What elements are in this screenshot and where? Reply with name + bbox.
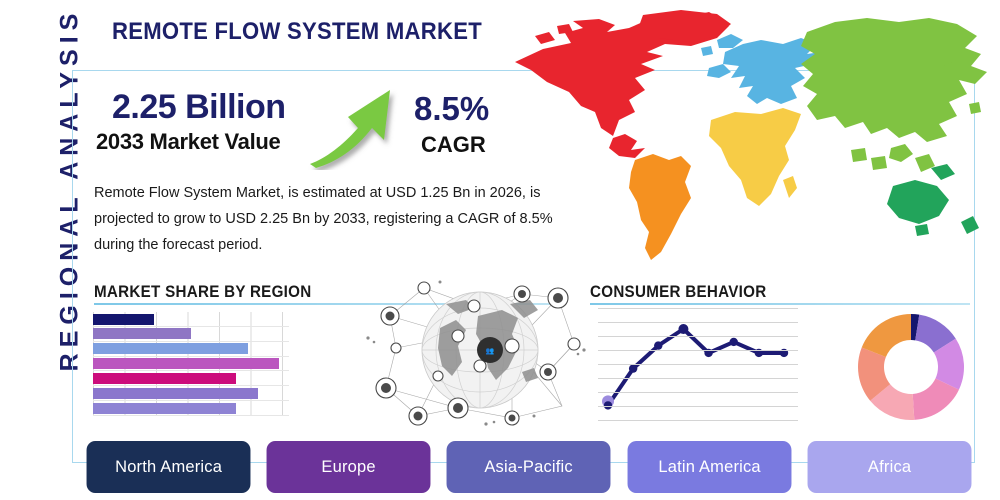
consumer-behavior-line-chart — [598, 308, 798, 420]
market-share-heading: MARKET SHARE BY REGION — [94, 283, 311, 302]
line-chart-gridline — [598, 322, 798, 323]
cagr-label: CAGR — [421, 132, 486, 158]
network-globe-icon: 👥 — [362, 276, 590, 428]
line-chart-gridline — [598, 378, 798, 379]
bar-chart-bar — [93, 328, 191, 339]
line-chart-gridline — [598, 420, 798, 421]
consumer-behavior-heading-rule — [590, 303, 970, 305]
bar-chart-separator — [93, 356, 289, 357]
market-share-bar-chart — [93, 312, 289, 416]
bar-chart-separator — [93, 385, 289, 386]
bar-chart-bar — [93, 403, 236, 414]
region-button-latin-america[interactable]: Latin America — [627, 441, 791, 493]
region-button-label: Europe — [322, 457, 376, 477]
line-chart-gridline — [598, 350, 798, 351]
cagr-figure: 8.5% — [414, 90, 489, 128]
page-title: REMOTE FLOW SYSTEM MARKET — [112, 18, 482, 46]
bar-chart-separator — [93, 341, 289, 342]
line-chart-point — [654, 341, 662, 349]
line-chart-point — [629, 364, 637, 372]
line-chart-gridline — [598, 308, 798, 309]
region-button-north-america[interactable]: North America — [87, 441, 251, 493]
bar-chart-bar — [93, 358, 279, 369]
bar-chart-bar — [93, 388, 258, 399]
growth-arrow-icon — [308, 84, 408, 170]
segment-donut-chart — [856, 312, 966, 422]
region-button-africa[interactable]: Africa — [807, 441, 971, 493]
bar-chart-bar — [93, 343, 248, 354]
world-map-icon — [495, 8, 995, 270]
region-button-asia-pacific[interactable]: Asia-Pacific — [447, 441, 611, 493]
hero-stats: 2.25 Billion 2033 Market Value 8.5% CAGR — [96, 88, 516, 168]
region-button-label: Latin America — [658, 457, 760, 477]
bar-chart-bar — [93, 373, 236, 384]
bar-chart-separator — [93, 370, 289, 371]
infographic-canvas: REGIONAL ANALYSIS REMOTE FLOW SYSTEM MAR… — [0, 0, 1000, 500]
bar-chart-separator — [93, 400, 289, 401]
line-chart-gridline — [598, 392, 798, 393]
bar-chart-separator — [93, 415, 289, 416]
line-chart-point — [678, 324, 688, 334]
region-button-label: Africa — [868, 457, 911, 477]
line-chart-gridline — [598, 364, 798, 365]
region-button-label: North America — [115, 457, 222, 477]
line-chart-gridline — [598, 336, 798, 337]
region-button-europe[interactable]: Europe — [267, 441, 431, 493]
consumer-behavior-heading: CONSUMER BEHAVIOR — [590, 283, 766, 302]
bar-chart-bar — [93, 314, 154, 325]
line-chart-point — [730, 338, 738, 346]
svg-text:👥: 👥 — [486, 348, 495, 355]
market-value-figure: 2.25 Billion — [112, 88, 286, 127]
bar-chart-separator — [93, 326, 289, 327]
line-chart-gridline — [598, 406, 798, 407]
region-button-bar: North AmericaEuropeAsia-PacificLatin Ame… — [84, 441, 974, 493]
market-value-label: 2033 Market Value — [96, 129, 280, 155]
region-button-label: Asia-Pacific — [485, 457, 573, 477]
